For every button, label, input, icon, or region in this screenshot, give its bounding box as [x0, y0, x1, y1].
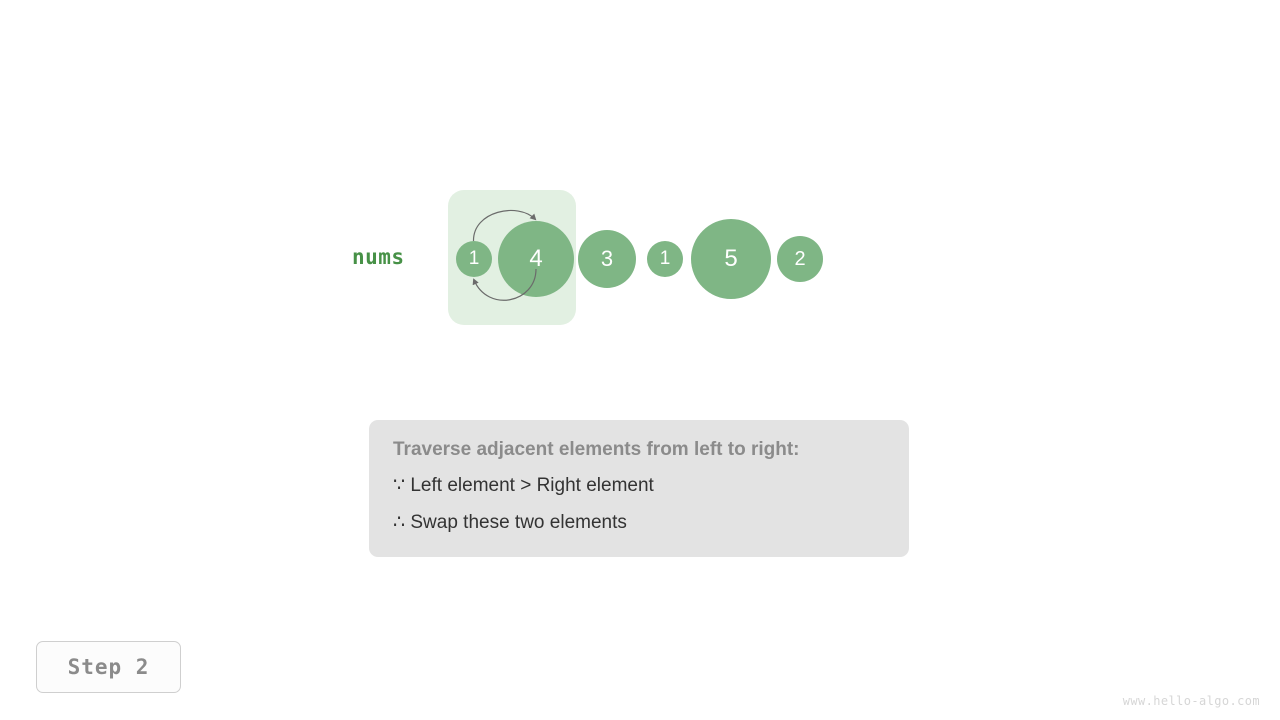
description-line-2: ∴ Swap these two elements	[393, 513, 885, 532]
array-element-value: 4	[529, 245, 542, 273]
array-element-value: 2	[794, 248, 805, 271]
description-heading: Traverse adjacent elements from left to …	[393, 440, 885, 459]
array-element-value: 3	[601, 246, 613, 272]
step-badge: Step 2	[36, 641, 181, 693]
array-element-0: 1	[456, 241, 492, 277]
array-visualization: nums 1 4 3 1 5 2	[0, 0, 1280, 720]
array-element-value: 1	[660, 248, 671, 270]
array-element-4: 5	[691, 219, 771, 299]
array-element-value: 5	[724, 245, 737, 273]
description-line-1: ∵ Left element > Right element	[393, 476, 885, 495]
array-variable-label: nums	[352, 245, 405, 269]
array-element-2: 3	[578, 230, 636, 288]
array-element-3: 1	[647, 241, 683, 277]
step-badge-label: Step 2	[68, 655, 150, 679]
array-element-value: 1	[469, 248, 480, 270]
swap-highlight-box	[448, 190, 576, 325]
watermark: www.hello-algo.com	[1123, 694, 1260, 708]
array-element-1: 4	[498, 221, 574, 297]
description-panel: Traverse adjacent elements from left to …	[369, 420, 909, 557]
swap-arrows-icon	[440, 185, 590, 335]
array-element-5: 2	[777, 236, 823, 282]
